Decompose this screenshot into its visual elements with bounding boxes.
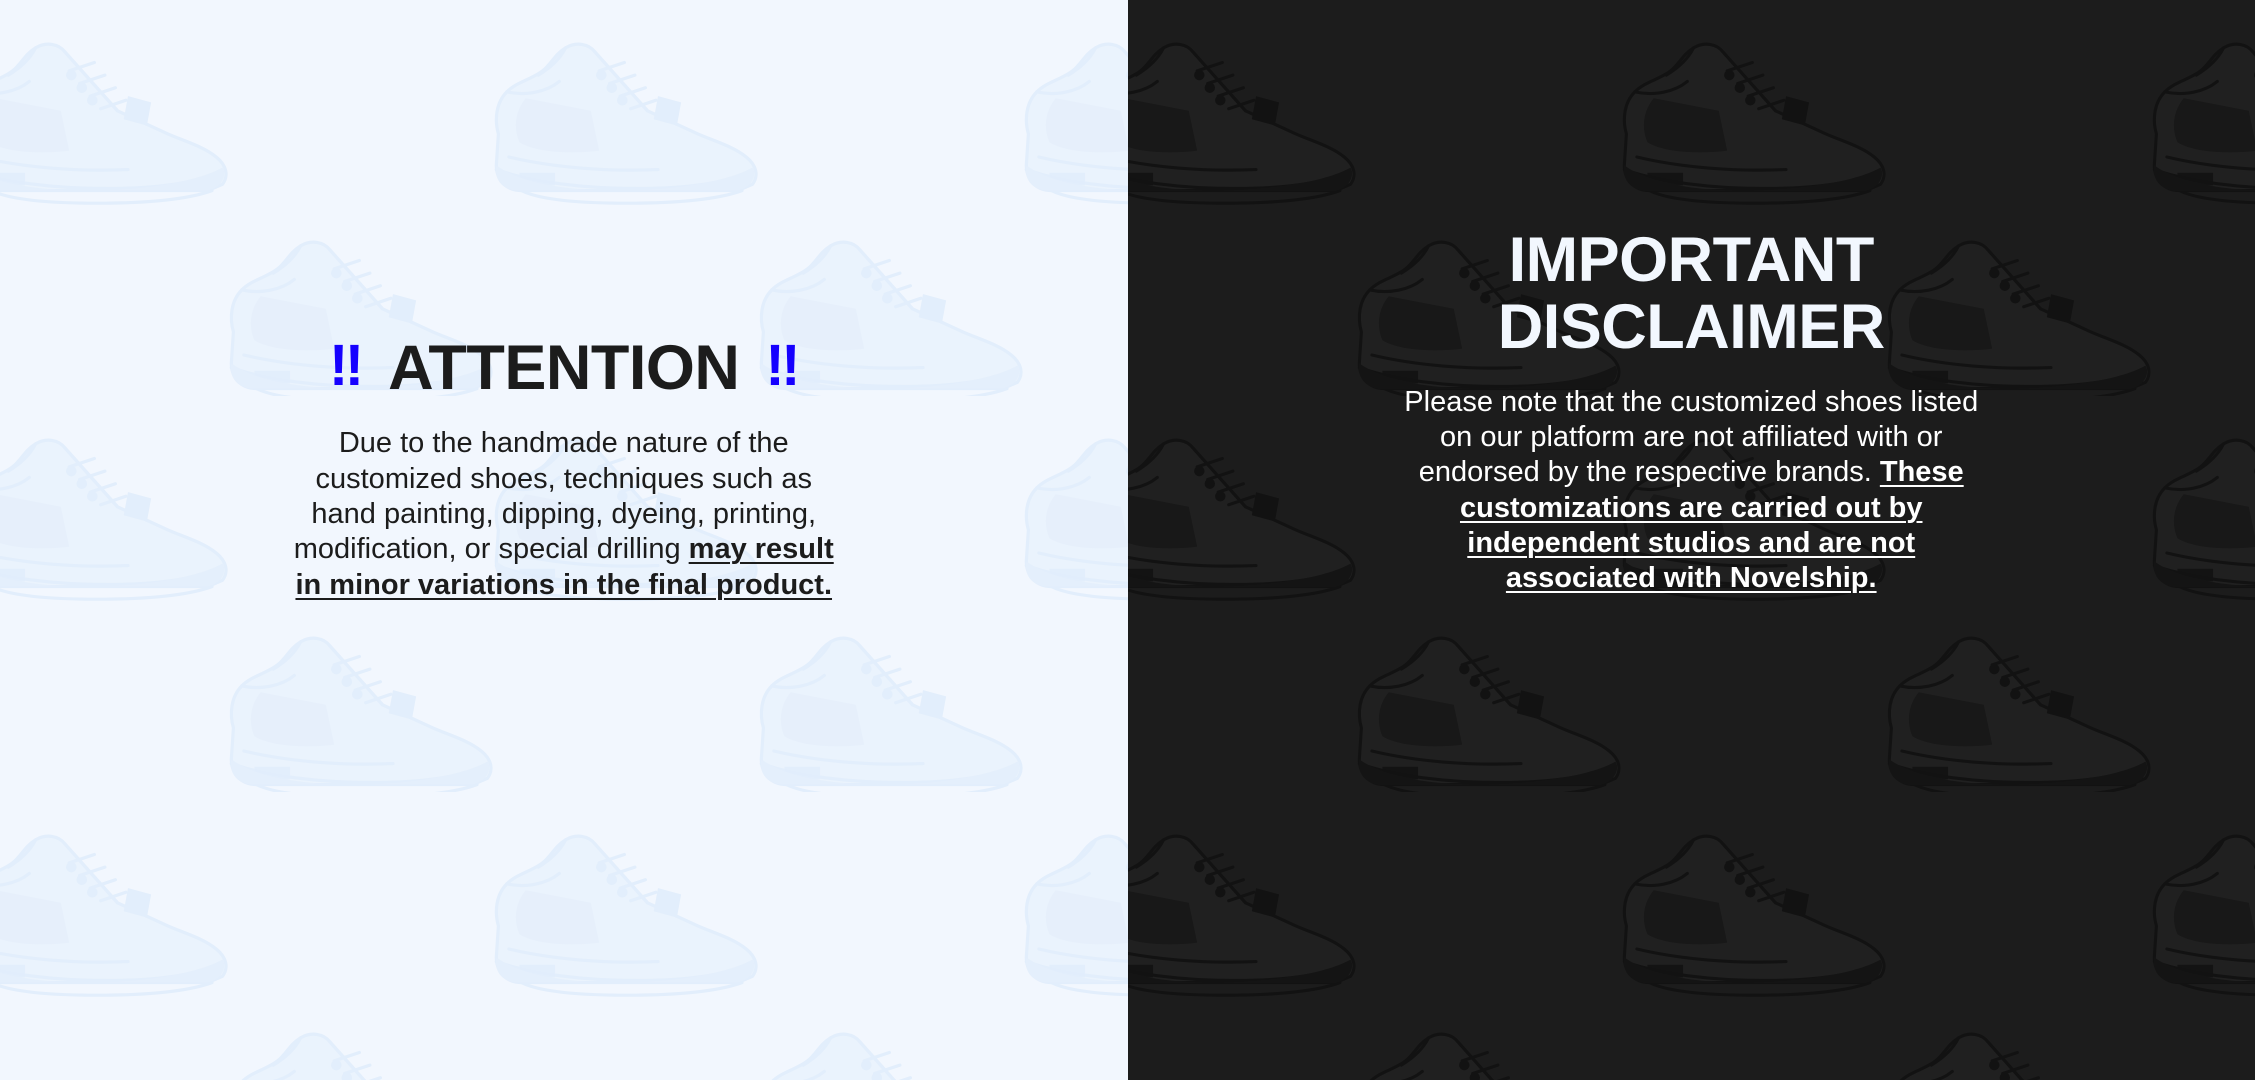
attention-heading-text: ATTENTION (388, 336, 739, 400)
double-exclamation-icon-left: ‼ (329, 337, 362, 395)
disclaimer-content: IMPORTANT DISCLAIMER Please note that th… (1128, 0, 2255, 597)
disclaimer-panel: IMPORTANT DISCLAIMER Please note that th… (1128, 0, 2255, 1080)
attention-content: ‼ ATTENTION ‼ Due to the handmade nature… (0, 0, 1128, 603)
disclaimer-heading: IMPORTANT DISCLAIMER (1128, 227, 2255, 361)
disclaimer-body: Please note that the customized shoes li… (1397, 385, 1985, 597)
split-banner: ‼ ATTENTION ‼ Due to the handmade nature… (0, 0, 2255, 1080)
disclaimer-heading-line2: DISCLAIMER (1128, 294, 2255, 361)
attention-panel: ‼ ATTENTION ‼ Due to the handmade nature… (0, 0, 1128, 1080)
disclaimer-heading-line1: IMPORTANT (1128, 227, 2255, 294)
attention-body: Due to the handmade nature of the custom… (284, 426, 844, 603)
double-exclamation-icon-right: ‼ (765, 337, 798, 395)
attention-heading: ‼ ATTENTION ‼ (0, 336, 1128, 400)
